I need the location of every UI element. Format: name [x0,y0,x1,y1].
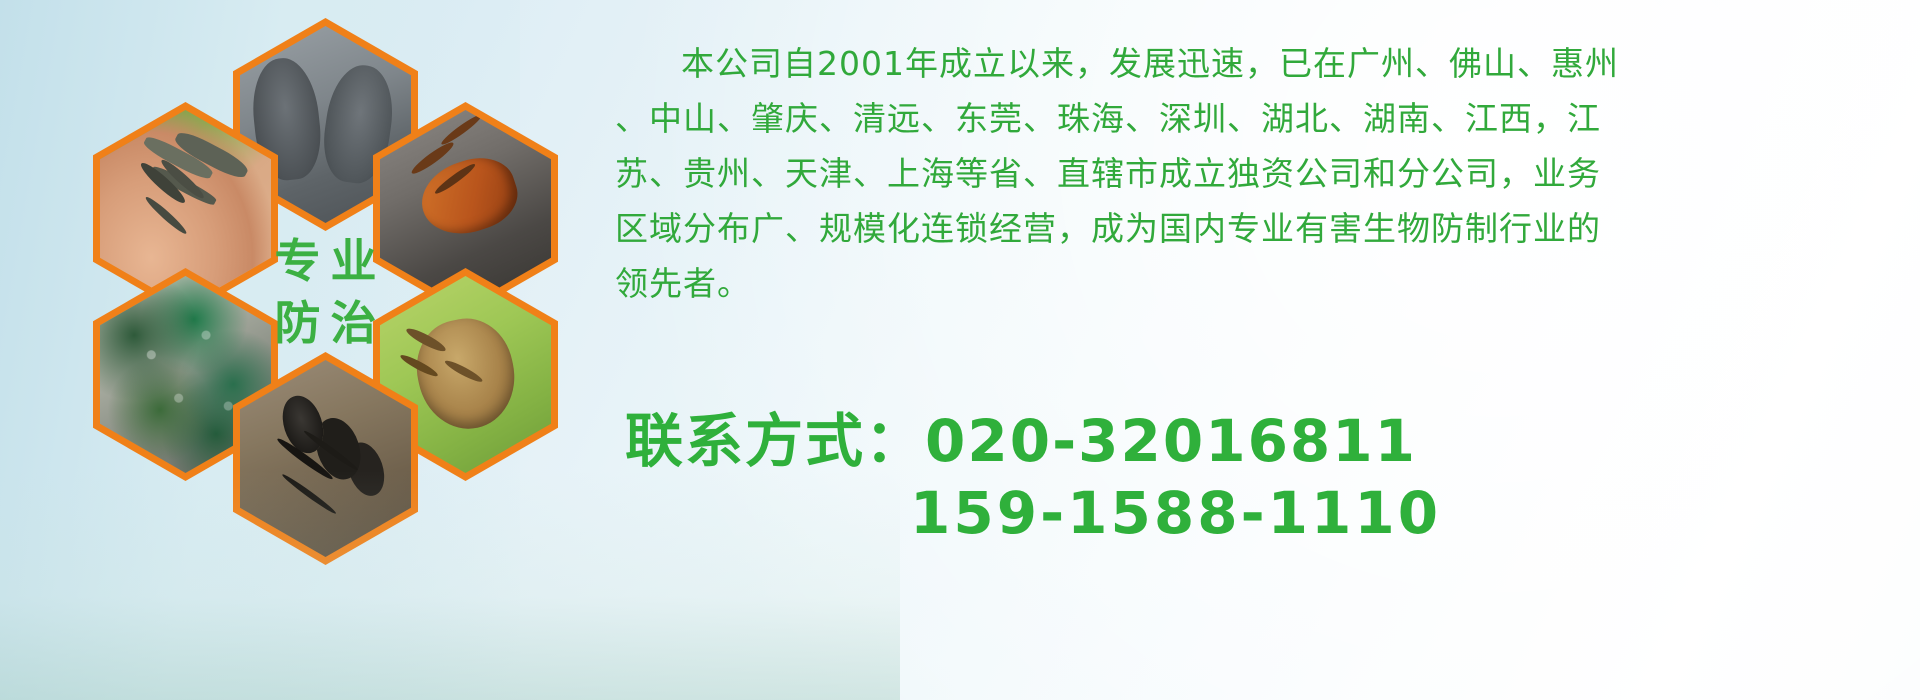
badge-line-2: 防治 [265,300,387,346]
promo-banner: 专业 防治 本公司自2001年成立以来，发展迅速，已在广州、佛山、惠州 、中山、… [0,0,1920,700]
contact-phone-secondary[interactable]: 159-1588-1110 [625,477,1875,549]
intro-line-1: 本公司自2001年成立以来，发展迅速，已在广州、佛山、惠州 [615,36,1905,91]
intro-line-4: 区域分布广、规模化连锁经营，成为国内专业有害生物防制行业的 [615,201,1905,256]
intro-paragraph: 本公司自2001年成立以来，发展迅速，已在广州、佛山、惠州 、中山、肇庆、清远、… [615,36,1905,311]
intro-line-5: 领先者。 [615,256,1905,311]
hex-tile-inner [240,360,411,557]
intro-line-3: 苏、贵州、天津、上海等省、直辖市成立独资公司和分公司，业务 [615,146,1905,201]
contact-block: 联系方式：020-32016811 159-1588-1110 [625,405,1875,549]
ants-photo [240,360,411,557]
badge-line-1: 专业 [265,238,387,284]
contact-phone-primary[interactable]: 联系方式：020-32016811 [625,405,1875,477]
hexagon-photo-cluster: 专业 防治 [85,10,585,570]
intro-line-2: 、中山、肇庆、清远、东莞、珠海、深圳、湖北、湖南、江西，江 [615,91,1905,146]
